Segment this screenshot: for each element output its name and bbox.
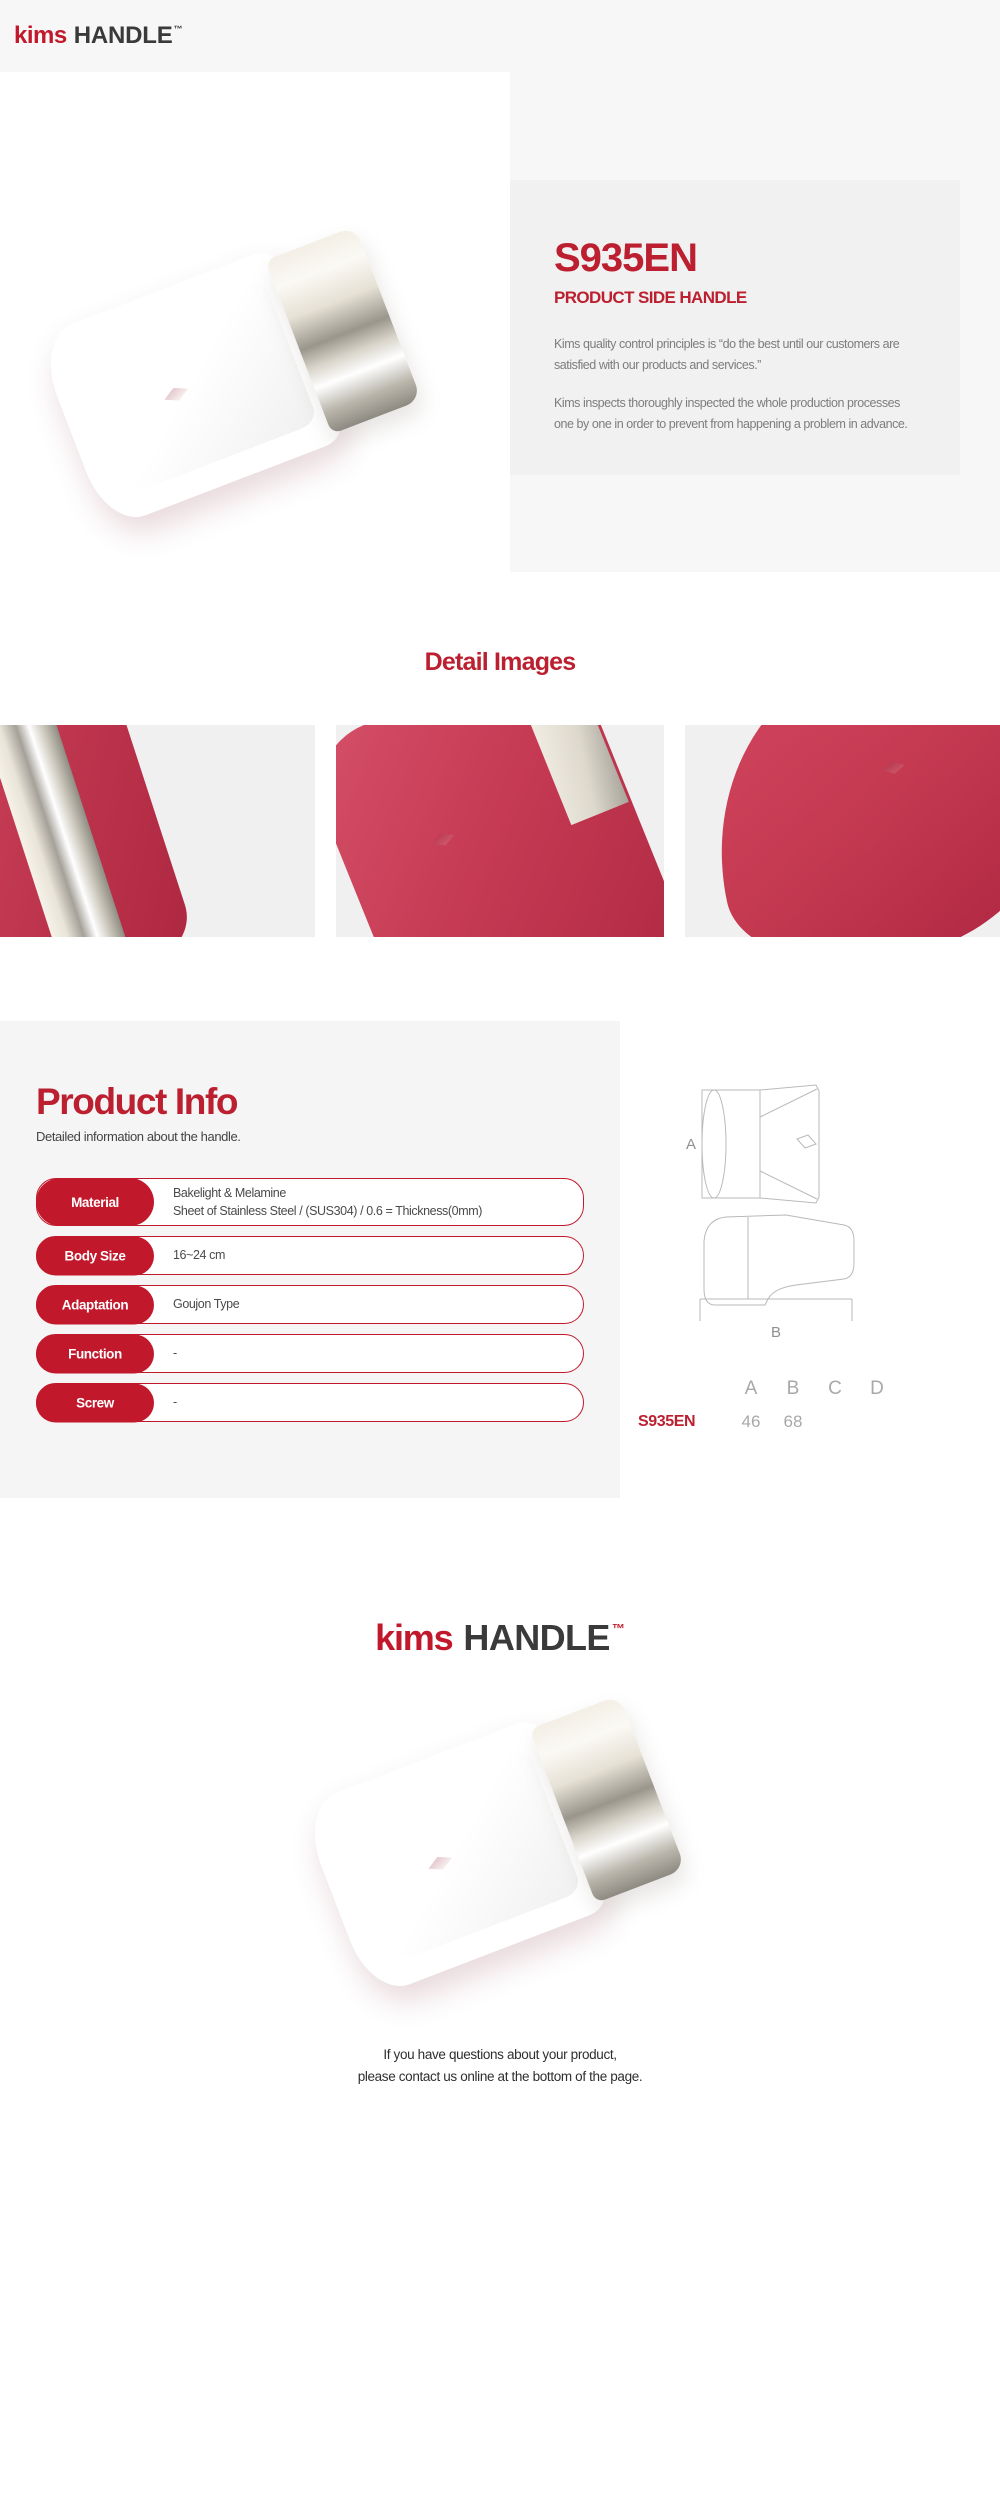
spec-value-body-size: 16~24 cm — [173, 1246, 225, 1264]
footer-product-photo — [0, 1690, 1000, 2020]
spec-label-body-size: Body Size — [36, 1236, 154, 1275]
spec-label-screw: Screw — [36, 1383, 154, 1422]
dimension-value-a: 46 — [730, 1412, 772, 1432]
product-diagram-panel: A B A B C D S935EN 46 68 — [620, 1021, 1000, 1498]
dimension-column-b: B — [772, 1378, 814, 1400]
detail-thumbnail-1[interactable] — [0, 725, 315, 937]
technical-drawing: A B — [656, 1077, 906, 1352]
spec-label-material: Material — [36, 1178, 154, 1226]
product-illustration — [28, 189, 461, 550]
handle-body-shape — [336, 725, 663, 937]
spec-value-material-line2: Sheet of Stainless Steel / (SUS304) / 0.… — [173, 1202, 482, 1220]
quality-principle-paragraph: Kims quality control principles is “do t… — [554, 334, 916, 375]
brand-logo-kims-text: kims — [14, 24, 67, 48]
spec-value-material-line1: Bakelight & Melamine — [173, 1184, 482, 1202]
inspection-paragraph: Kims inspects thoroughly inspected the w… — [554, 393, 916, 434]
dimension-value-b: 68 — [772, 1412, 814, 1432]
detail-images-section: Detail Images — [0, 572, 1000, 937]
detail-images-heading: Detail Images — [0, 648, 1000, 677]
spec-value-adaptation: Goujon Type — [173, 1295, 239, 1313]
detail-thumbnail-row — [0, 725, 1000, 937]
hero-section: S935EN PRODUCT SIDE HANDLE Kims quality … — [0, 72, 1000, 572]
brand-logo-kims-text: kims — [375, 1620, 452, 1656]
dimension-column-c: C — [814, 1378, 856, 1400]
dimension-column-a: A — [730, 1378, 772, 1400]
dimension-table: A B C D S935EN 46 68 — [638, 1378, 908, 1432]
spec-label-adaptation: Adaptation — [36, 1285, 154, 1324]
contact-note-line1: If you have questions about your product… — [0, 2044, 1000, 2066]
product-info-panel: Product Info Detailed information about … — [0, 1021, 620, 1498]
technical-drawing-svg: A B — [656, 1077, 906, 1347]
trademark-symbol: ™ — [612, 1622, 625, 1635]
product-type-subtitle: PRODUCT SIDE HANDLE — [554, 288, 916, 308]
contact-note: If you have questions about your product… — [0, 2044, 1000, 2088]
spec-value-screw: - — [173, 1393, 177, 1411]
product-info-subheading: Detailed information about the handle. — [36, 1129, 584, 1144]
spec-row-function: Function - — [36, 1334, 584, 1373]
handle-highlight-facet — [63, 277, 319, 499]
handle-highlight-facet — [327, 1746, 583, 1968]
spec-value-material: Bakelight & Melamine Sheet of Stainless … — [173, 1184, 482, 1220]
detail-thumbnail-2[interactable] — [336, 725, 663, 937]
hero-product-photo — [0, 72, 510, 572]
spec-row-screw: Screw - — [36, 1383, 584, 1422]
product-info-section: Product Info Detailed information about … — [0, 1021, 1000, 1558]
diagram-label-b: B — [771, 1324, 781, 1341]
spec-list: Material Bakelight & Melamine Sheet of S… — [36, 1178, 584, 1422]
brand-logo-header[interactable]: kims HANDLE ™ — [14, 24, 183, 48]
dimension-table-header: A B C D — [638, 1378, 908, 1400]
footer-section: kims HANDLE ™ If you have questions abou… — [0, 1558, 1000, 2144]
contact-note-line2: please contact us online at the bottom o… — [0, 2066, 1000, 2088]
product-info-heading: Product Info — [36, 1083, 584, 1120]
product-illustration — [292, 1658, 725, 2019]
hero-info-panel: S935EN PRODUCT SIDE HANDLE Kims quality … — [510, 180, 960, 475]
diagram-label-a: A — [686, 1136, 696, 1153]
spec-row-body-size: Body Size 16~24 cm — [36, 1236, 584, 1275]
spec-row-adaptation: Adaptation Goujon Type — [36, 1285, 584, 1324]
product-model-title: S935EN — [554, 238, 916, 278]
spec-label-function: Function — [36, 1334, 154, 1373]
top-header-bar: kims HANDLE ™ — [0, 0, 1000, 72]
brand-logo-handle-text: HANDLE — [74, 24, 173, 48]
brand-logo-handle-text: HANDLE — [463, 1620, 609, 1656]
trademark-symbol: ™ — [174, 25, 183, 34]
spec-value-function: - — [173, 1344, 177, 1362]
brand-logo-footer[interactable]: kims HANDLE ™ — [375, 1620, 625, 1656]
dimension-table-row: S935EN 46 68 — [638, 1412, 908, 1432]
spec-row-material: Material Bakelight & Melamine Sheet of S… — [36, 1178, 584, 1226]
dimension-row-model: S935EN — [638, 1413, 730, 1431]
dimension-column-d: D — [856, 1378, 898, 1400]
handle-body-shape — [685, 725, 1000, 937]
detail-thumbnail-3[interactable] — [685, 725, 1000, 937]
